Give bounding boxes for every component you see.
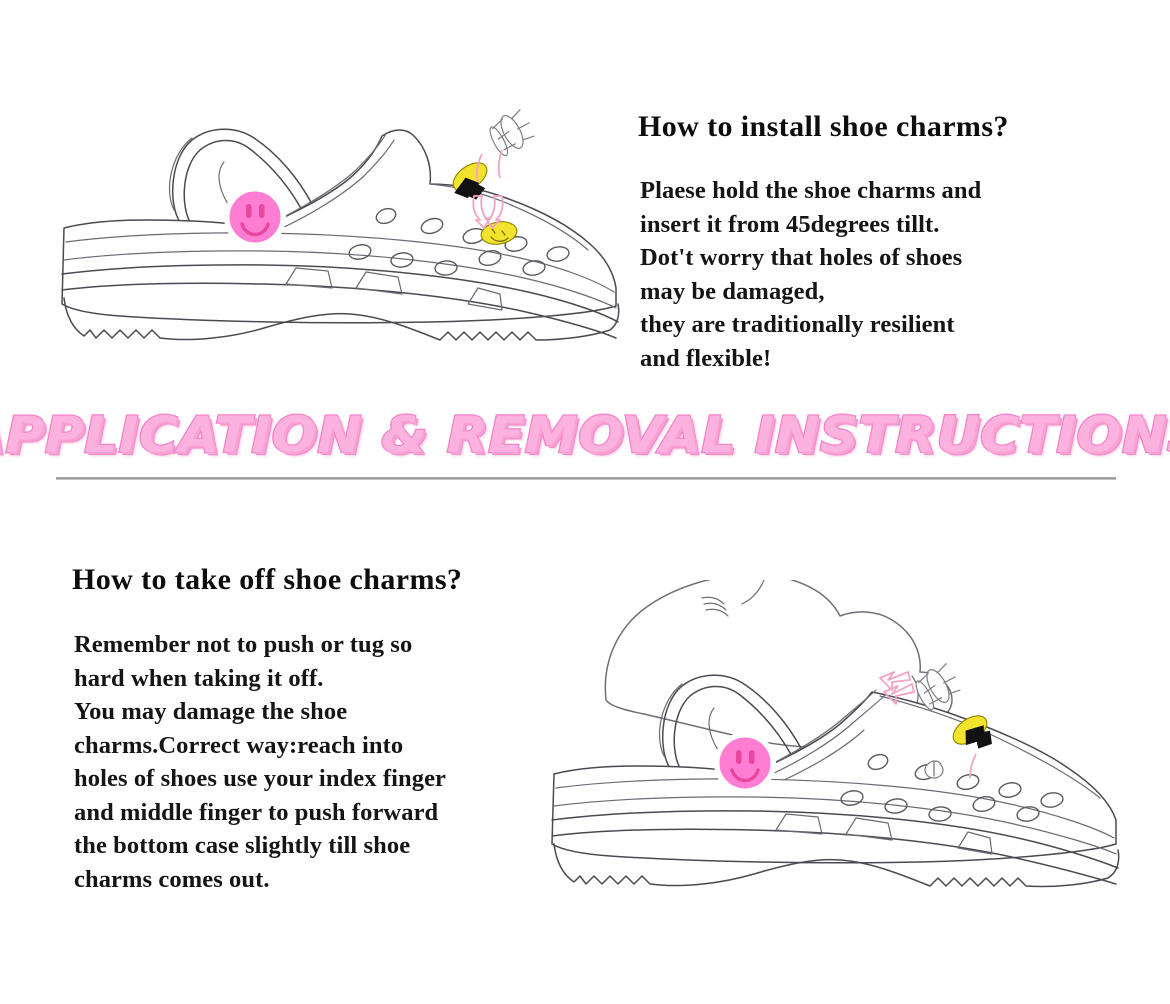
clog-install-illustration bbox=[50, 92, 630, 360]
charm-popping-out bbox=[925, 761, 943, 778]
pink-smiley-charm-install bbox=[224, 186, 286, 248]
clog-removal-illustration bbox=[540, 580, 1140, 900]
removal-body-text: Remember not to push or tug so hard when… bbox=[74, 628, 574, 896]
banner-title: APPLICATION & REMOVAL INSTRUCTIONS bbox=[0, 406, 1170, 464]
charm-plug-detail bbox=[485, 107, 538, 158]
pink-smiley-charm-removal bbox=[714, 732, 776, 794]
install-body-text: Plaese hold the shoe charms and insert i… bbox=[640, 174, 1110, 375]
removal-heading: How to take off shoe charms? bbox=[72, 563, 462, 596]
instruction-sheet: How to install shoe charms? Plaese hold … bbox=[0, 0, 1170, 1004]
banner: APPLICATION & REMOVAL INSTRUCTIONS bbox=[0, 404, 1170, 466]
install-heading: How to install shoe charms? bbox=[638, 110, 1009, 143]
section-divider bbox=[56, 477, 1116, 480]
